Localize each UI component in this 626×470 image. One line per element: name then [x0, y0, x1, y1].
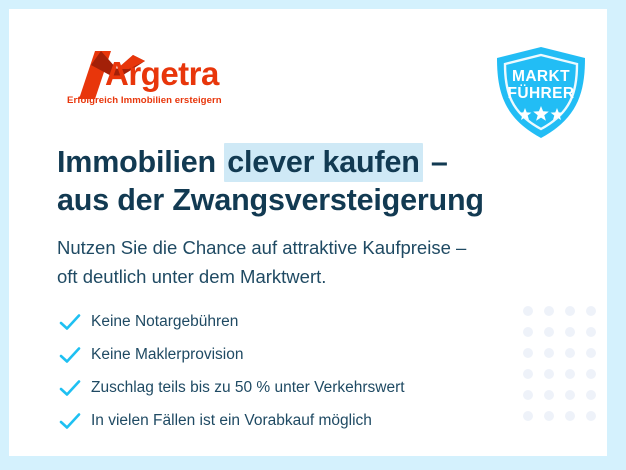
decorative-dot: [523, 306, 533, 316]
logo-tagline: Erfolgreich Immobilien ersteigern: [67, 95, 222, 106]
headline-highlight: clever kaufen: [224, 143, 422, 182]
decorative-dot: [565, 327, 575, 337]
badge-line-1: MARKT: [492, 68, 590, 86]
list-item-label: Zuschlag teils bis zu 50 % unter Verkehr…: [85, 378, 405, 398]
decorative-dot: [586, 348, 596, 358]
decorative-dot: [586, 411, 596, 421]
check-icon: [57, 411, 85, 431]
list-item: Keine Notargebühren: [57, 305, 527, 338]
decorative-dot: [586, 306, 596, 316]
subheadline-line-1: Nutzen Sie die Chance auf attraktive Kau…: [57, 233, 557, 262]
ad-card: Argetra Erfolgreich Immobilien ersteiger…: [9, 9, 607, 456]
decorative-dot: [586, 327, 596, 337]
list-item: In vielen Fällen ist ein Vorabkauf mögli…: [57, 404, 527, 437]
decorative-dot: [565, 390, 575, 400]
page-title: Immobilien clever kaufen – aus der Zwang…: [57, 143, 557, 219]
badge-line-2: FÜHRER: [492, 85, 590, 103]
decorative-dot: [544, 327, 554, 337]
subheadline: Nutzen Sie die Chance auf attraktive Kau…: [57, 233, 557, 291]
decorative-dot: [544, 411, 554, 421]
decorative-dot: [523, 348, 533, 358]
decorative-dot: [586, 390, 596, 400]
decorative-dot: [544, 369, 554, 379]
list-item: Zuschlag teils bis zu 50 % unter Verkehr…: [57, 371, 527, 404]
badge-stars-icon: [516, 105, 566, 123]
decorative-dot: [586, 369, 596, 379]
decorative-dot: [544, 390, 554, 400]
headline-line-1: Immobilien clever kaufen –: [57, 143, 557, 181]
subheadline-line-2: oft deutlich unter dem Marktwert.: [57, 262, 557, 291]
check-icon: [57, 312, 85, 332]
benefit-list: Keine Notargebühren Keine Maklerprovisio…: [57, 305, 527, 437]
check-icon: [57, 345, 85, 365]
check-icon: [57, 378, 85, 398]
market-leader-badge: MARKT FÜHRER: [492, 45, 590, 141]
decorative-dot: [565, 369, 575, 379]
decorative-dot-grid: [523, 306, 607, 434]
headline-prefix: Immobilien: [57, 145, 224, 179]
decorative-dot: [523, 411, 533, 421]
decorative-dot: [565, 348, 575, 358]
decorative-dot: [523, 390, 533, 400]
list-item-label: Keine Notargebühren: [85, 312, 238, 332]
decorative-dot: [523, 327, 533, 337]
headline-line-2: aus der Zwangsversteigerung: [57, 181, 557, 219]
decorative-dot: [523, 369, 533, 379]
argetra-logo[interactable]: Argetra Erfolgreich Immobilien ersteiger…: [57, 45, 247, 115]
decorative-dot: [544, 348, 554, 358]
list-item-label: Keine Maklerprovision: [85, 345, 244, 365]
list-item-label: In vielen Fällen ist ein Vorabkauf mögli…: [85, 411, 372, 431]
list-item: Keine Maklerprovision: [57, 338, 527, 371]
logo-wordmark: Argetra: [105, 55, 219, 93]
decorative-dot: [565, 411, 575, 421]
headline-suffix: –: [423, 145, 448, 179]
decorative-dot: [544, 306, 554, 316]
decorative-dot: [565, 306, 575, 316]
ad-banner: Argetra Erfolgreich Immobilien ersteiger…: [0, 0, 626, 470]
